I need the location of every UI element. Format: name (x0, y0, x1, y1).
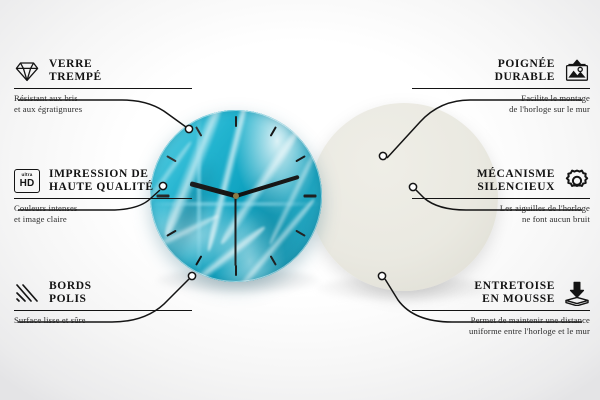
feature-divider (412, 198, 590, 199)
feature-description: Les aiguilles de l'horloge ne font aucun… (412, 203, 590, 225)
infographic-stage: VERRE TREMPÉ Résistant aux bris et aux é… (0, 0, 600, 400)
clock-tick (235, 265, 237, 276)
feature-divider (412, 310, 590, 311)
feature-header: ENTRETOISE EN MOUSSE (412, 280, 590, 306)
feature-poignee-durable: POIGNÉE DURABLE Facilite le montage de l… (412, 58, 590, 115)
feature-mecanisme-silencieux: MÉCANISME SILENCIEUX Les aiguilles de l'… (412, 168, 590, 225)
feature-impression-hd: ultra HD IMPRESSION DE HAUTE QUALITÉ Cou… (14, 168, 192, 225)
feature-title: MÉCANISME SILENCIEUX (477, 168, 555, 194)
feature-header: VERRE TREMPÉ (14, 58, 192, 84)
feature-title: BORDS POLIS (49, 280, 92, 306)
gear-icon (564, 168, 590, 194)
feature-header: POIGNÉE DURABLE (412, 58, 590, 84)
feature-description: Résistant aux bris et aux égratignures (14, 93, 192, 115)
feature-bords-polis: BORDS POLIS Surface lisse et sûre (14, 280, 192, 326)
clock-tick (235, 116, 237, 127)
clock-center-cap (233, 193, 239, 199)
ultra-hd-icon: ultra HD (14, 168, 40, 194)
feature-header: ultra HD IMPRESSION DE HAUTE QUALITÉ (14, 168, 192, 194)
feature-divider (14, 310, 192, 311)
ultra-hd-icon-main-label: HD (20, 179, 35, 189)
feature-divider (14, 198, 192, 199)
foam-spacer-icon (564, 280, 590, 306)
feature-title: VERRE TREMPÉ (49, 58, 102, 84)
feature-entretoise-mousse: ENTRETOISE EN MOUSSE Permet de maintenir… (412, 280, 590, 337)
feature-description: Permet de maintenir une distance uniform… (412, 315, 590, 337)
feature-divider (412, 88, 590, 89)
picture-hanger-icon (564, 58, 590, 84)
feature-title: IMPRESSION DE HAUTE QUALITÉ (49, 168, 154, 194)
feature-header: MÉCANISME SILENCIEUX (412, 168, 590, 194)
feature-description: Surface lisse et sûre (14, 315, 192, 326)
feature-divider (14, 88, 192, 89)
feature-header: BORDS POLIS (14, 280, 192, 306)
clock-tick (303, 195, 316, 198)
polished-edges-icon (14, 280, 40, 306)
feature-title: POIGNÉE DURABLE (495, 58, 555, 84)
diamond-icon (14, 58, 40, 84)
feature-description: Couleurs intenses et image claire (14, 203, 192, 225)
feature-title: ENTRETOISE EN MOUSSE (474, 280, 555, 306)
feature-description: Facilite le montage de l'horloge sur le … (412, 93, 590, 115)
feature-verre-trempe: VERRE TREMPÉ Résistant aux bris et aux é… (14, 58, 192, 115)
